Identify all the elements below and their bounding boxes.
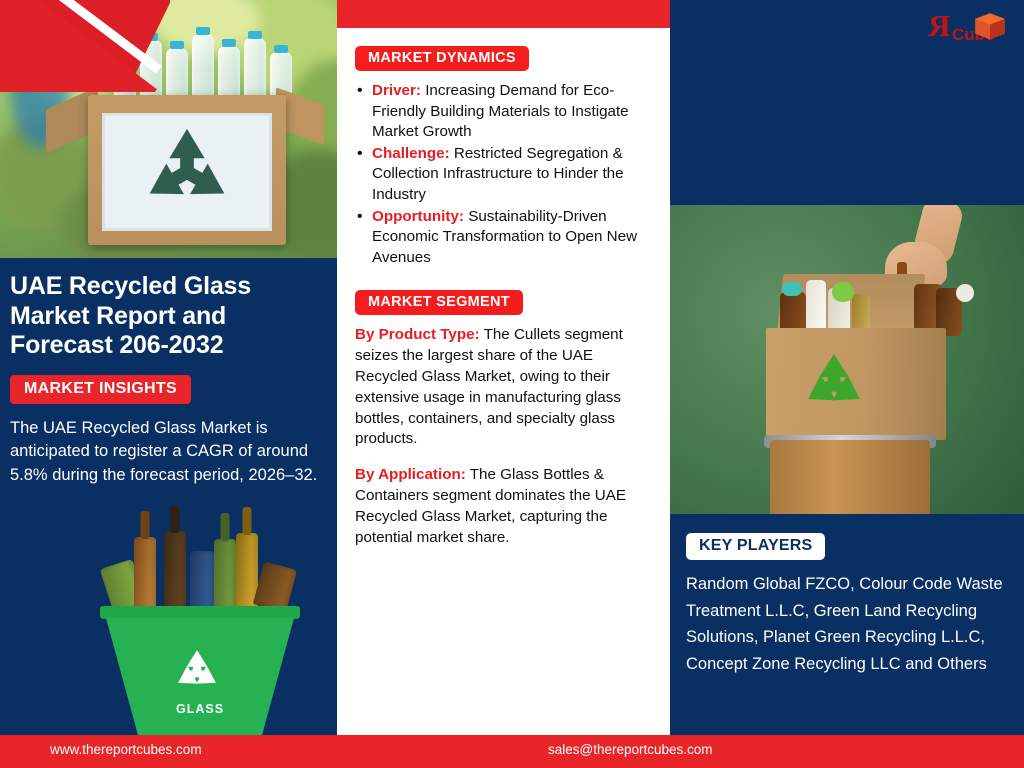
dynamics-key: Challenge: bbox=[372, 145, 450, 162]
bin-label: GLASS bbox=[100, 702, 300, 716]
footer-bar: www.thereportcubes.com sales@thereportcu… bbox=[0, 735, 1024, 768]
cube-icon bbox=[973, 11, 1007, 45]
left-text-block: UAE Recycled Glass Market Report and For… bbox=[10, 272, 327, 487]
dynamics-key: Driver: bbox=[372, 82, 421, 99]
right-column: R Cube bbox=[670, 0, 1024, 735]
recycle-icon bbox=[133, 123, 241, 221]
bottle-cap bbox=[832, 282, 854, 302]
bin-recycle-icon bbox=[166, 646, 228, 698]
left-column: UAE Recycled Glass Market Report and For… bbox=[0, 0, 337, 735]
market-insights-badge: MARKET INSIGHTS bbox=[10, 375, 191, 404]
dynamics-key: Opportunity: bbox=[372, 208, 464, 225]
logo-r-mark: R bbox=[928, 10, 950, 41]
center-top-red-bar bbox=[337, 0, 670, 28]
segment-key: By Application: bbox=[355, 466, 466, 483]
key-players-text: Random Global FZCO, Colour Code Waste Tr… bbox=[686, 571, 1010, 678]
infographic-page: UAE Recycled Glass Market Report and For… bbox=[0, 0, 1024, 768]
glass-recycling-bin-graphic: GLASS bbox=[100, 524, 300, 735]
recycling-box-photo bbox=[0, 0, 337, 258]
center-column: MARKET DYNAMICS Driver: Increasing Deman… bbox=[337, 0, 670, 735]
segment-application: By Application: The Glass Bottles & Cont… bbox=[355, 465, 656, 548]
corner-ribbon bbox=[0, 0, 170, 92]
page-title: UAE Recycled Glass Market Report and For… bbox=[10, 272, 327, 361]
glass-bottles-group bbox=[106, 524, 294, 609]
center-content: MARKET DYNAMICS Driver: Increasing Deman… bbox=[355, 46, 656, 549]
brand-logo[interactable]: R Cube bbox=[910, 5, 1010, 53]
recycling-donation-photo bbox=[670, 205, 1024, 514]
market-dynamics-list: Driver: Increasing Demand for Eco-Friend… bbox=[355, 81, 656, 268]
bottle-cap bbox=[956, 284, 974, 302]
bottle-cap bbox=[782, 282, 802, 296]
key-players-block: KEY PLAYERS Random Global FZCO, Colour C… bbox=[686, 533, 1010, 678]
market-dynamics-badge: MARKET DYNAMICS bbox=[355, 46, 529, 71]
barrel bbox=[770, 440, 930, 514]
list-item: Driver: Increasing Demand for Eco-Friend… bbox=[355, 81, 656, 143]
recycle-icon bbox=[794, 350, 874, 418]
footer-email[interactable]: sales@thereportcubes.com bbox=[548, 742, 713, 757]
market-insights-text: The UAE Recycled Glass Market is anticip… bbox=[10, 417, 327, 488]
key-players-badge: KEY PLAYERS bbox=[686, 533, 825, 560]
cardboard-box bbox=[88, 95, 286, 245]
segment-key: By Product Type: bbox=[355, 326, 480, 343]
segment-text: The Cullets segment seizes the largest s… bbox=[355, 326, 623, 447]
box-label bbox=[102, 113, 272, 231]
segment-product-type: By Product Type: The Cullets segment sei… bbox=[355, 325, 656, 450]
market-segment-badge: MARKET SEGMENT bbox=[355, 290, 523, 315]
footer-website[interactable]: www.thereportcubes.com bbox=[50, 742, 202, 757]
list-item: Challenge: Restricted Segregation & Coll… bbox=[355, 144, 656, 206]
bin-lip bbox=[100, 606, 300, 618]
list-item: Opportunity: Sustainability-Driven Econo… bbox=[355, 207, 656, 269]
